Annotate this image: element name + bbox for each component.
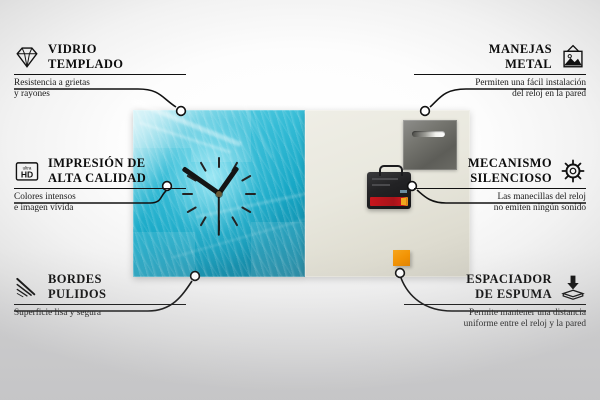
feature-heading: VIDRIO TEMPLADO: [14, 42, 186, 71]
feature-desc-line1: Permiten una fácil instalación: [414, 78, 586, 89]
feature-heading: BORDES PULIDOS: [14, 272, 186, 301]
title-underline: [14, 304, 186, 305]
title-underline: [414, 188, 586, 189]
mechanism-detail: [400, 190, 407, 193]
mechanism-detail: [372, 178, 398, 180]
feature-desc-line2: del reloj en la pared: [414, 89, 586, 100]
feature-title: VIDRIO TEMPLADO: [48, 42, 123, 71]
foam-spacer-icon: [560, 274, 586, 300]
battery-terminal: [401, 198, 406, 205]
quartz-mechanism-box: [367, 172, 411, 209]
feature-desc-line1: Permite mantener una distancia: [404, 308, 586, 319]
feature-heading: MANEJAS METAL: [414, 42, 586, 71]
title-underline: [404, 304, 586, 305]
feature-desc-line2: uniforme entre el reloj y la pared: [404, 319, 586, 330]
feature-title: ESPACIADOR DE ESPUMA: [466, 272, 552, 301]
feature-title: MECANISMO SILENCIOSO: [468, 156, 552, 185]
glass-facet: [251, 222, 305, 277]
battery: [370, 197, 408, 206]
title-underline: [414, 74, 586, 75]
feature-desc-line1: Superficie lisa y segura: [14, 308, 186, 319]
title-underline: [14, 74, 186, 75]
feature-bordes-pulidos[interactable]: BORDES PULIDOS Superficie lisa y segura: [14, 272, 186, 319]
feature-impresion-alta-calidad[interactable]: ultra HD IMPRESIÓN DE ALTA CALIDAD Color…: [14, 156, 186, 215]
diamond-icon: [14, 44, 40, 70]
feature-desc-line2: e imagen vívida: [14, 203, 186, 214]
feature-desc-line1: Resistencia a grietas: [14, 78, 186, 89]
feature-heading: ESPACIADOR DE ESPUMA: [404, 272, 586, 301]
hanger-slot: [412, 131, 445, 137]
feature-heading: ultra HD IMPRESIÓN DE ALTA CALIDAD: [14, 156, 186, 185]
feature-title: MANEJAS METAL: [489, 42, 552, 71]
feature-desc-line1: Las manecillas del reloj: [414, 192, 586, 203]
feature-espaciador-de-espuma[interactable]: ESPACIADOR DE ESPUMA Permite mantener un…: [404, 272, 586, 331]
feature-heading: MECANISMO SILENCIOSO: [414, 156, 586, 185]
feature-manejas-metal[interactable]: MANEJAS METAL Permiten una fácil instala…: [414, 42, 586, 101]
feature-mecanismo-silencioso[interactable]: MECANISMO SILENCIOSO Las manecillas del …: [414, 156, 586, 215]
feature-vidrio-templado[interactable]: VIDRIO TEMPLADO Resistencia a grietas y …: [14, 42, 186, 101]
feature-desc-line2: y rayones: [14, 89, 186, 100]
foam-spacer: [393, 250, 410, 266]
polished-edges-icon: [14, 274, 40, 300]
mechanism-hanging-loop: [379, 165, 403, 176]
feature-title: IMPRESIÓN DE ALTA CALIDAD: [48, 156, 146, 185]
infographic-canvas: VIDRIO TEMPLADO Resistencia a grietas y …: [0, 0, 600, 400]
feature-title: BORDES PULIDOS: [48, 272, 106, 301]
clock-hub: [216, 191, 222, 197]
feature-desc-line2: no emiten ningún sonido: [414, 203, 586, 214]
title-underline: [14, 188, 186, 189]
clock-second-hand: [218, 192, 220, 236]
svg-text:HD: HD: [21, 169, 33, 179]
mechanism-detail: [372, 184, 390, 186]
wall-hanger-icon: [560, 44, 586, 70]
ultra-hd-icon: ultra HD: [14, 158, 40, 184]
gear-icon: [560, 158, 586, 184]
feature-desc-line1: Colores intensos: [14, 192, 186, 203]
